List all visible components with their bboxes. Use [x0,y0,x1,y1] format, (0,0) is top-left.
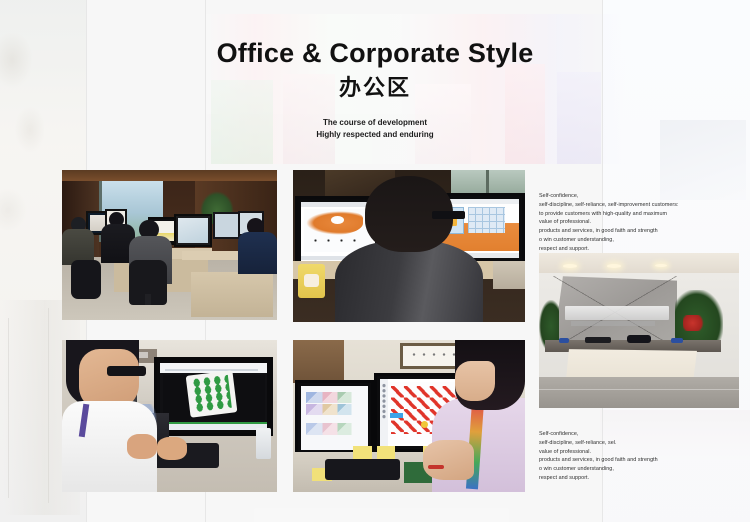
photo-qc-inspection [62,340,277,492]
company-statement-bottom: Self-confidence, self-discipline, self-r… [539,430,739,483]
page-title-english: Office & Corporate Style [0,40,750,67]
page-subtitle: The course of development Highly respect… [0,117,750,140]
page-root: Office & Corporate Style 办公区 The course … [0,0,750,522]
photo-office-workstations [62,170,277,320]
company-statement-top: Self-confidence, self-discipline, self-r… [539,192,739,253]
photo-designer-dual-monitors [293,170,525,322]
page-subtitle-line-1: The course of development [0,117,750,129]
photo-reception-lobby-canvas [539,253,739,408]
photo-qc-inspection-canvas [62,340,277,492]
page-title-chinese: 办公区 [0,77,750,99]
company-sign-plate [565,306,669,320]
photo-office-workstations-canvas [62,170,277,320]
page-header: Office & Corporate Style 办公区 The course … [0,0,750,140]
photo-operator-dual-monitors [293,340,525,492]
photo-designer-dual-monitors-canvas [293,170,525,322]
page-subtitle-line-2: Highly respected and enduring [0,129,750,141]
photo-reception-lobby [539,253,739,408]
photo-operator-dual-monitors-canvas [293,340,525,492]
